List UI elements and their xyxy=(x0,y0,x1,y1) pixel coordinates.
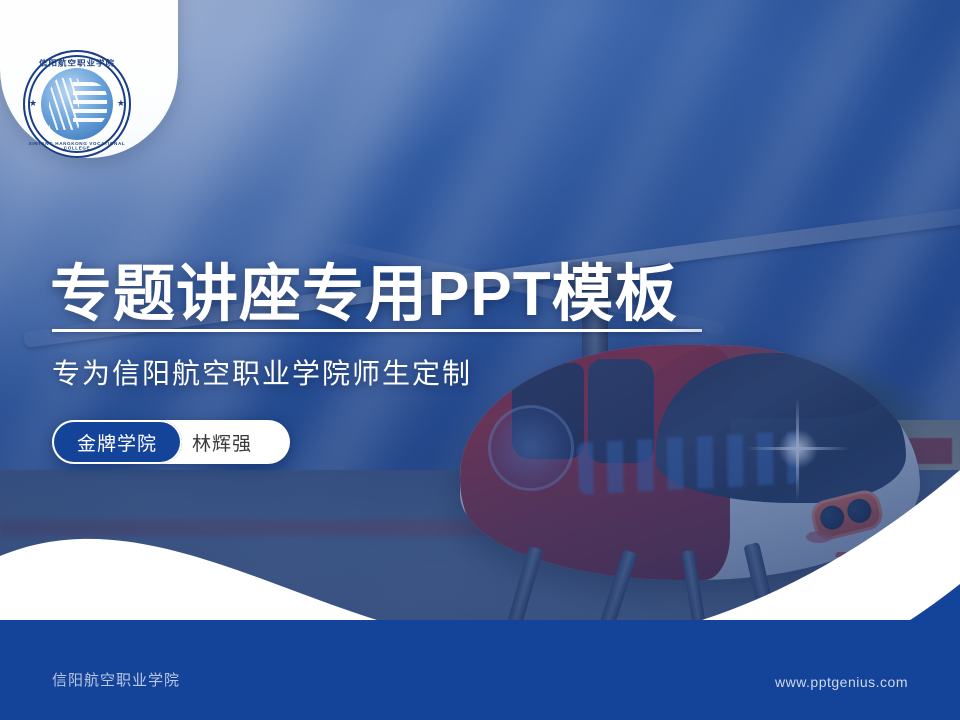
school-emblem-icon: 信阳航空职业学院 ★ ★ XINYANG HANGKONG VOCATIONAL… xyxy=(23,50,131,158)
emblem-ring-text-cn: 信阳航空职业学院 xyxy=(23,58,131,69)
badge-tag-pill[interactable]: 金牌学院 xyxy=(52,420,182,464)
page-subtitle: 专为信阳航空职业学院师生定制 xyxy=(52,352,472,392)
footer-school-name: 信阳航空职业学院 xyxy=(52,669,180,690)
page-title: 专题讲座专用PPT模板 xyxy=(50,243,678,333)
emblem-ring-text-en: XINYANG HANGKONG VOCATIONAL COLLEGE xyxy=(23,142,131,151)
title-divider xyxy=(52,329,702,332)
presenter-name: 林辉强 xyxy=(192,420,252,464)
presenter-badge[interactable]: 金牌学院 林辉强 xyxy=(52,420,290,464)
emblem-star-left: ★ xyxy=(29,99,37,108)
presentation-title-slide: 信阳航空职业学院 www.pptgenius.com 信阳航空职业学院 ★ ★ … xyxy=(0,0,960,720)
emblem-center-graphic xyxy=(41,68,113,140)
emblem-bars xyxy=(73,82,107,126)
emblem-star-right: ★ xyxy=(117,99,125,108)
footer-website[interactable]: www.pptgenius.com xyxy=(775,674,908,690)
badge-tag-label: 金牌学院 xyxy=(77,429,157,456)
